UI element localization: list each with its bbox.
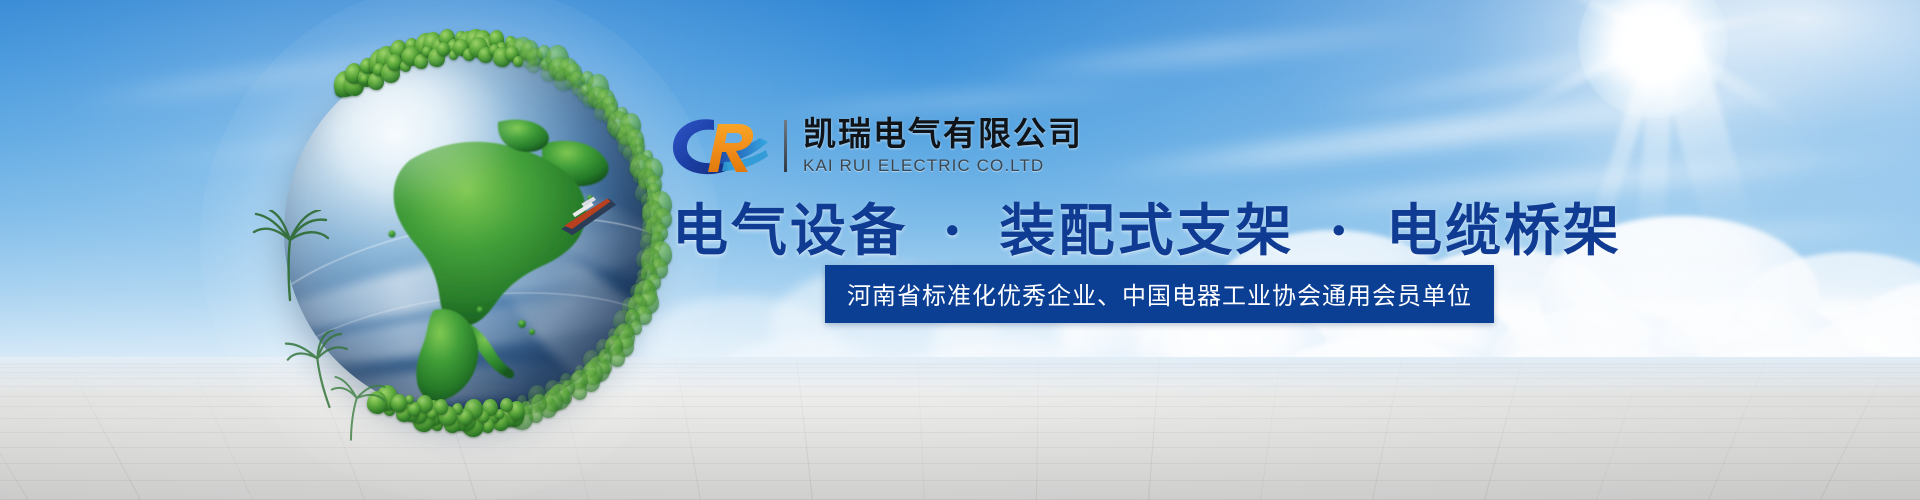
cr-monogram-logo-icon bbox=[668, 112, 772, 180]
company-name-cn: 凯瑞电气有限公司 bbox=[803, 116, 1083, 153]
headline-separator: · bbox=[1317, 198, 1364, 264]
status-badge: 河南省标准化优秀企业、中国电器工业协会通用会员单位 bbox=[825, 265, 1494, 323]
headline-separator: · bbox=[931, 198, 978, 264]
rim-tree-icon bbox=[391, 394, 407, 412]
headline-part-2: 装配式支架 bbox=[1000, 198, 1295, 264]
rim-tree-icon bbox=[584, 363, 597, 377]
green-earth-globe bbox=[262, 34, 662, 434]
palm-tree-icon bbox=[322, 374, 389, 447]
logo-divider bbox=[784, 120, 787, 172]
page-title: 电气设备 · 装配式支架 · 电缆桥架 bbox=[672, 186, 1622, 267]
headline-part-1: 电气设备 bbox=[672, 198, 908, 264]
company-name-en: KAI RUI ELECTRIC CO.LTD bbox=[803, 156, 1083, 176]
pavement-seam-line bbox=[0, 463, 1920, 464]
palm-tree-icon bbox=[248, 210, 332, 306]
pavement-seam-line bbox=[0, 447, 1920, 448]
pavement-seam-line bbox=[0, 480, 1920, 481]
brand-logo-block[interactable]: 凯瑞电气有限公司 KAI RUI ELECTRIC CO.LTD bbox=[668, 112, 1083, 180]
rim-tree-icon bbox=[526, 398, 540, 413]
brand-name-group: 凯瑞电气有限公司 KAI RUI ELECTRIC CO.LTD bbox=[803, 116, 1083, 177]
headline-part-3: 电缆桥架 bbox=[1386, 198, 1622, 264]
hero-banner: 凯瑞电气有限公司 KAI RUI ELECTRIC CO.LTD 电气设备 · … bbox=[0, 0, 1920, 500]
